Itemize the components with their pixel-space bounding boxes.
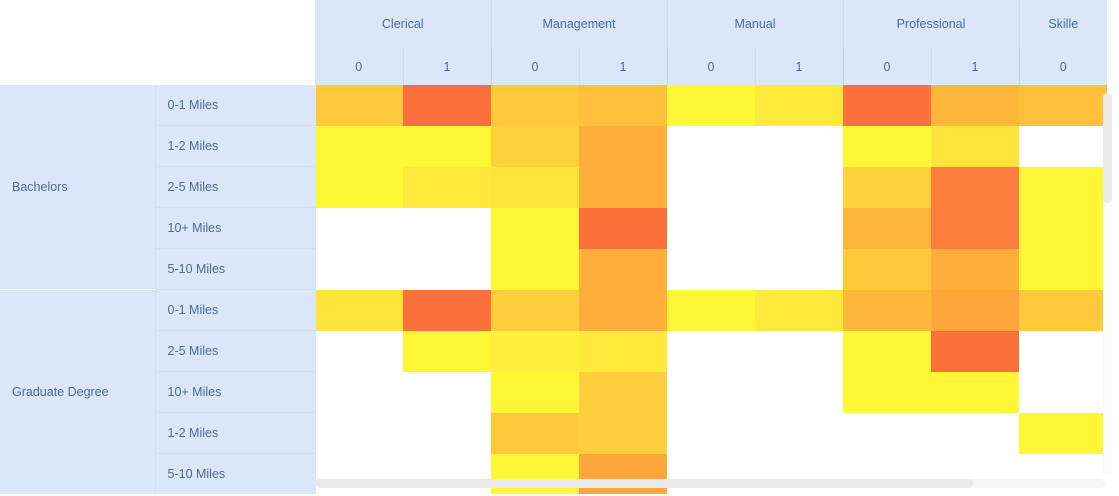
column-group-management[interactable]: Management <box>491 0 667 48</box>
column-group-manual[interactable]: Manual <box>667 0 843 48</box>
table-row: Graduate Degree0-1 Miles <box>0 290 1107 331</box>
heatmap-cell[interactable] <box>931 167 1019 208</box>
heatmap-cell[interactable] <box>1019 126 1107 167</box>
heatmap-cell[interactable] <box>843 208 931 249</box>
heatmap-cell[interactable] <box>1019 372 1107 413</box>
pivot-table: Clerical Management Manual Professional … <box>0 0 1107 495</box>
row-label-cell[interactable]: 2-5 Miles <box>155 167 315 208</box>
heatmap-cell[interactable] <box>931 290 1019 331</box>
heatmap-cell[interactable] <box>1019 249 1107 290</box>
heatmap-cell[interactable] <box>931 413 1019 454</box>
heatmap-cell[interactable] <box>667 85 755 126</box>
table-row: 1-2 Miles <box>0 413 1107 454</box>
heatmap-cell[interactable] <box>755 331 843 372</box>
heatmap-cell[interactable] <box>843 372 931 413</box>
heatmap-cell[interactable] <box>491 126 579 167</box>
row-label-cell[interactable]: 0-1 Miles <box>155 290 315 331</box>
corner-cell-label <box>155 0 315 85</box>
column-sub-clerical-1[interactable]: 1 <box>403 48 491 85</box>
column-sub-skilled-0[interactable]: 0 <box>1019 48 1107 85</box>
heatmap-cell[interactable] <box>491 249 579 290</box>
heatmap-cell[interactable] <box>755 167 843 208</box>
heatmap-cell[interactable] <box>315 413 403 454</box>
row-label-cell[interactable]: 10+ Miles <box>155 208 315 249</box>
heatmap-cell[interactable] <box>403 249 491 290</box>
heatmap-cell[interactable] <box>315 85 403 126</box>
heatmap-cell[interactable] <box>667 372 755 413</box>
heatmap-cell[interactable] <box>1019 208 1107 249</box>
heatmap-cell[interactable] <box>403 126 491 167</box>
row-label-cell[interactable]: 0-1 Miles <box>155 85 315 126</box>
column-sub-management-0[interactable]: 0 <box>491 48 579 85</box>
horizontal-scrollbar-thumb[interactable] <box>315 479 973 488</box>
table-body: Bachelors0-1 Miles1-2 Miles2-5 Miles10+ … <box>0 85 1107 494</box>
table-row: 2-5 Miles <box>0 167 1107 208</box>
heatmap-cell[interactable] <box>931 331 1019 372</box>
heatmap-cell[interactable] <box>579 208 667 249</box>
column-sub-management-1[interactable]: 1 <box>579 48 667 85</box>
heatmap-cell[interactable] <box>403 413 491 454</box>
table-row: Bachelors0-1 Miles <box>0 85 1107 126</box>
column-sub-manual-1[interactable]: 1 <box>755 48 843 85</box>
heatmap-cell[interactable] <box>843 290 931 331</box>
row-label-cell[interactable]: 5-10 Miles <box>155 454 315 495</box>
row-label-cell[interactable]: 10+ Miles <box>155 372 315 413</box>
heatmap-cell[interactable] <box>491 290 579 331</box>
heatmap-cell[interactable] <box>315 126 403 167</box>
heatmap-cell[interactable] <box>1019 167 1107 208</box>
heatmap-cell[interactable] <box>403 331 491 372</box>
row-label-cell[interactable]: 1-2 Miles <box>155 413 315 454</box>
heatmap-cell[interactable] <box>1019 331 1107 372</box>
heatmap-cell[interactable] <box>843 85 931 126</box>
column-sub-professional-0[interactable]: 0 <box>843 48 931 85</box>
row-label-cell[interactable]: 2-5 Miles <box>155 331 315 372</box>
heatmap-cell[interactable] <box>1019 85 1107 126</box>
column-group-clerical[interactable]: Clerical <box>315 0 491 48</box>
heatmap-cell[interactable] <box>491 85 579 126</box>
column-group-header-row: Clerical Management Manual Professional … <box>0 0 1107 48</box>
horizontal-scrollbar[interactable] <box>315 479 1105 488</box>
heatmap-cell[interactable] <box>667 290 755 331</box>
table-row: 5-10 Miles <box>0 249 1107 290</box>
heatmap-cell[interactable] <box>491 208 579 249</box>
heatmap-cell[interactable] <box>667 167 755 208</box>
heatmap-cell[interactable] <box>315 167 403 208</box>
heatmap-cell[interactable] <box>491 372 579 413</box>
heatmap-cell[interactable] <box>843 413 931 454</box>
heatmap-cell[interactable] <box>579 126 667 167</box>
heatmap-cell[interactable] <box>1019 290 1107 331</box>
heatmap-cell[interactable] <box>843 249 931 290</box>
vertical-scrollbar[interactable] <box>1103 93 1112 475</box>
heatmap-cell[interactable] <box>755 249 843 290</box>
heatmap-cell[interactable] <box>579 85 667 126</box>
row-label-cell[interactable]: 5-10 Miles <box>155 249 315 290</box>
corner-cell-group <box>0 0 155 85</box>
table-header: Clerical Management Manual Professional … <box>0 0 1107 85</box>
vertical-scrollbar-thumb[interactable] <box>1103 93 1112 203</box>
row-group-graduate-degree[interactable]: Graduate Degree <box>0 290 155 495</box>
heatmap-cell[interactable] <box>667 413 755 454</box>
heatmap-cell[interactable] <box>667 208 755 249</box>
column-sub-manual-0[interactable]: 0 <box>667 48 755 85</box>
heatmap-cell[interactable] <box>843 167 931 208</box>
column-sub-professional-1[interactable]: 1 <box>931 48 1019 85</box>
row-group-bachelors[interactable]: Bachelors <box>0 85 155 290</box>
heatmap-cell[interactable] <box>579 290 667 331</box>
heatmap-cell[interactable] <box>491 331 579 372</box>
heatmap-cell[interactable] <box>755 413 843 454</box>
heatmap-cell[interactable] <box>755 85 843 126</box>
heatmap-cell[interactable] <box>579 413 667 454</box>
heatmap-cell[interactable] <box>315 290 403 331</box>
heatmap-cell[interactable] <box>491 413 579 454</box>
heatmap-cell[interactable] <box>1019 413 1107 454</box>
row-label-cell[interactable]: 1-2 Miles <box>155 126 315 167</box>
heatmap-pivot-table-view: Clerical Management Manual Professional … <box>0 0 1119 496</box>
heatmap-cell[interactable] <box>403 290 491 331</box>
heatmap-cell[interactable] <box>843 126 931 167</box>
heatmap-cell[interactable] <box>931 372 1019 413</box>
heatmap-cell[interactable] <box>579 249 667 290</box>
heatmap-cell[interactable] <box>755 290 843 331</box>
table-row: 2-5 Miles <box>0 331 1107 372</box>
heatmap-cell[interactable] <box>579 372 667 413</box>
column-group-professional[interactable]: Professional <box>843 0 1019 48</box>
heatmap-cell[interactable] <box>403 208 491 249</box>
heatmap-cell[interactable] <box>315 372 403 413</box>
column-sub-clerical-0[interactable]: 0 <box>315 48 403 85</box>
heatmap-cell[interactable] <box>667 331 755 372</box>
heatmap-cell[interactable] <box>843 331 931 372</box>
table-row: 10+ Miles <box>0 208 1107 249</box>
heatmap-cell[interactable] <box>931 126 1019 167</box>
heatmap-cell[interactable] <box>579 167 667 208</box>
heatmap-cell[interactable] <box>579 331 667 372</box>
heatmap-cell[interactable] <box>315 249 403 290</box>
heatmap-cell[interactable] <box>315 331 403 372</box>
heatmap-cell[interactable] <box>403 167 491 208</box>
heatmap-cell[interactable] <box>931 85 1019 126</box>
heatmap-cell[interactable] <box>931 208 1019 249</box>
table-row: 10+ Miles <box>0 372 1107 413</box>
table-row: 1-2 Miles <box>0 126 1107 167</box>
heatmap-cell[interactable] <box>755 208 843 249</box>
heatmap-cell[interactable] <box>403 85 491 126</box>
heatmap-cell[interactable] <box>667 126 755 167</box>
heatmap-cell[interactable] <box>315 208 403 249</box>
heatmap-cell[interactable] <box>403 372 491 413</box>
heatmap-cell[interactable] <box>667 249 755 290</box>
heatmap-cell[interactable] <box>931 249 1019 290</box>
column-group-skilled[interactable]: Skille <box>1019 0 1107 48</box>
heatmap-cell[interactable] <box>491 167 579 208</box>
heatmap-cell[interactable] <box>755 126 843 167</box>
heatmap-cell[interactable] <box>755 372 843 413</box>
